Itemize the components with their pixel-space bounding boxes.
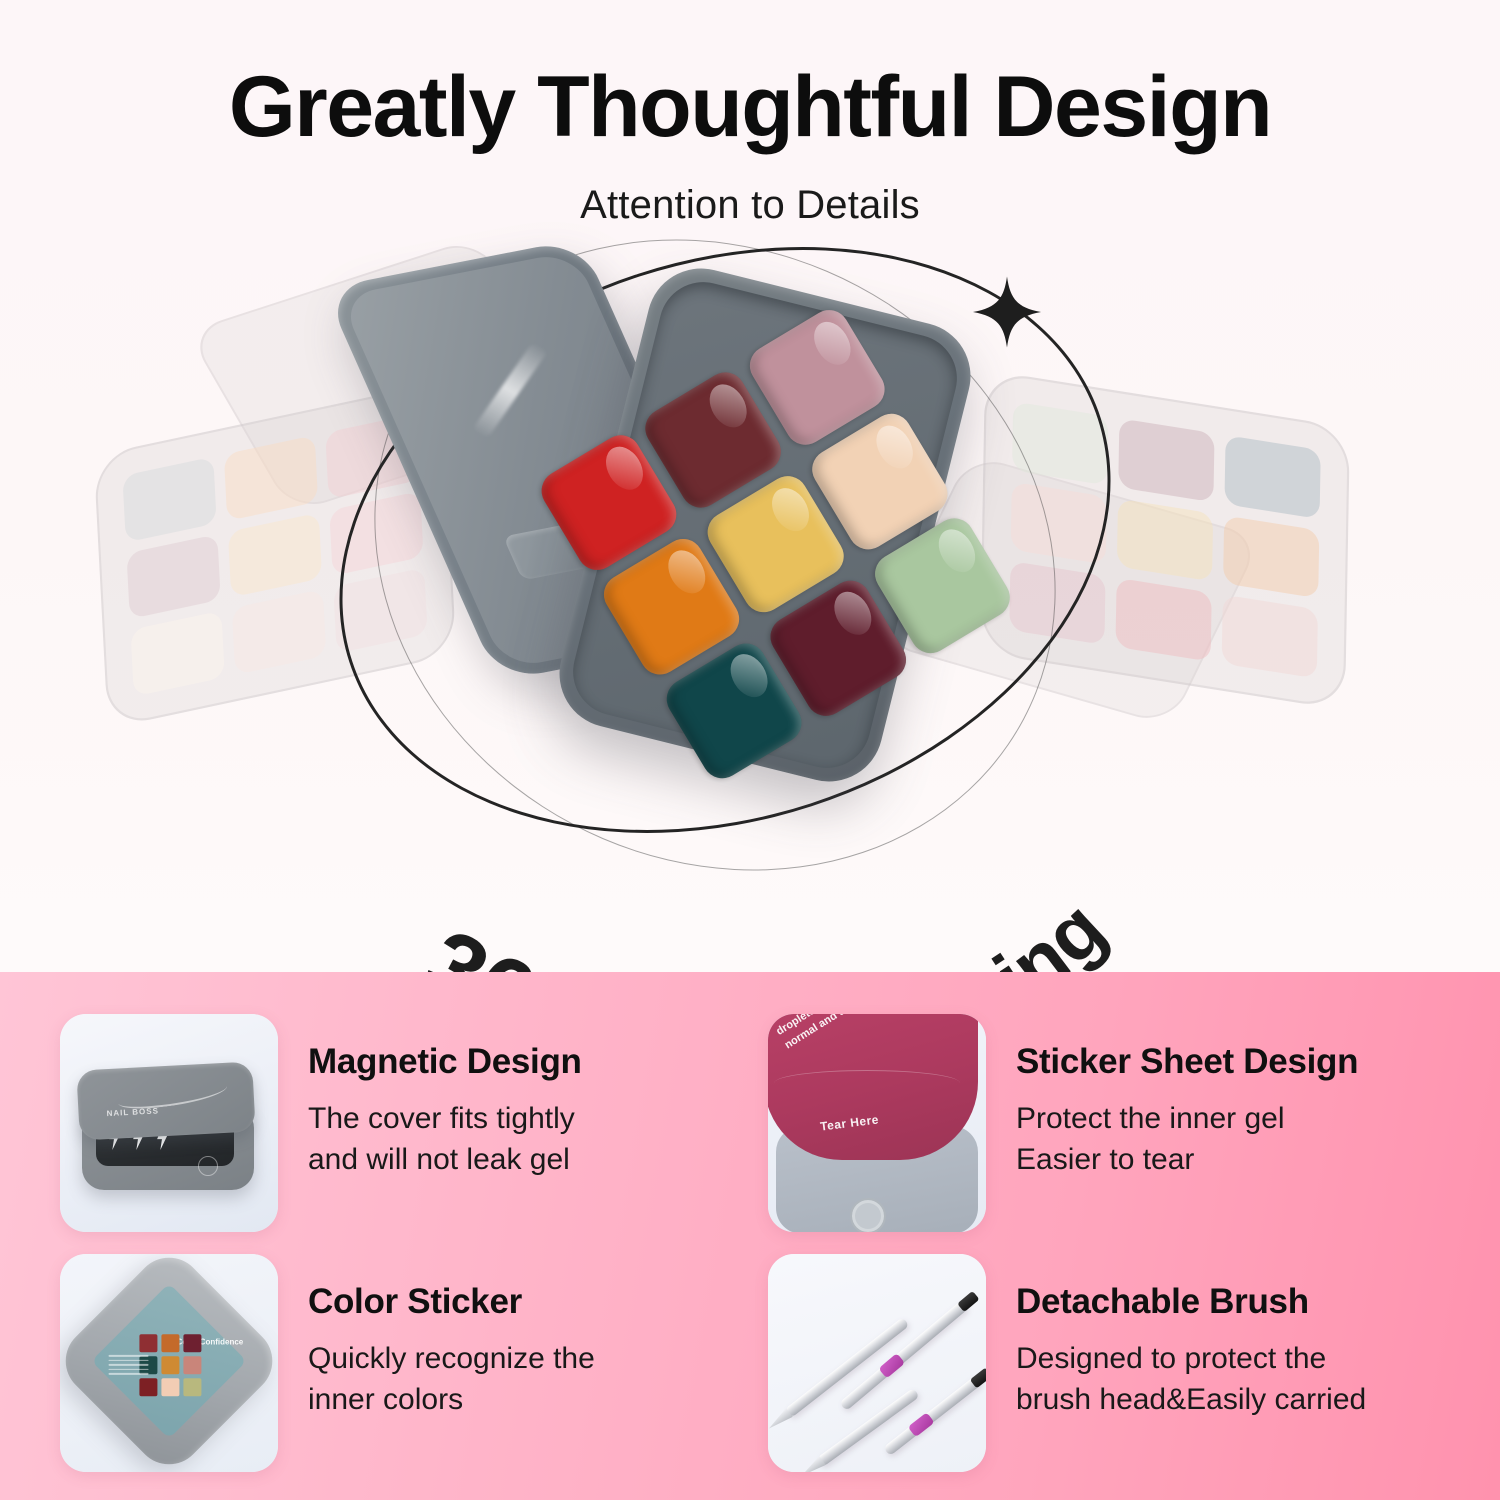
feature-desc-line-2: inner colors bbox=[308, 1379, 595, 1420]
sticker-swatch bbox=[161, 1378, 179, 1396]
feature-desc-line-1: Quickly recognize the bbox=[308, 1338, 595, 1379]
tear-seal-icon bbox=[850, 1198, 886, 1232]
svg-text:No Leaking: No Leaking bbox=[726, 883, 1122, 972]
sticker-swatch bbox=[183, 1334, 201, 1352]
ghost-well bbox=[126, 534, 220, 620]
feature-desc-line-2: and will not leak gel bbox=[308, 1139, 582, 1180]
sticker-swatch bbox=[183, 1378, 201, 1396]
sticker-swatch bbox=[183, 1356, 201, 1374]
sticker-sheet: ush droplets or bubbles are normal and u… bbox=[768, 1014, 978, 1160]
ghost-well bbox=[1224, 435, 1320, 519]
feature-card-sticker-sheet-design[interactable]: ush droplets or bubbles are normal and u… bbox=[768, 1014, 1440, 1232]
ghost-well bbox=[1223, 515, 1319, 599]
sticker-swatch bbox=[139, 1334, 157, 1352]
page-subtitle: Attention to Details bbox=[0, 183, 1500, 228]
feature-description: The cover fits tightly and will not leak… bbox=[308, 1098, 582, 1181]
sheet-warning-text: droplets or bubbles are normal and usage… bbox=[774, 1014, 927, 1054]
feature-description: Quickly recognize the inner colors bbox=[308, 1338, 595, 1421]
sticker-swatch-grid bbox=[139, 1334, 201, 1396]
sticker-swatch bbox=[161, 1334, 179, 1352]
feature-description: Designed to protect the brush head&Easil… bbox=[1016, 1338, 1366, 1421]
feature-text-block: Detachable Brush Designed to protect the… bbox=[1016, 1254, 1366, 1421]
thumb-background bbox=[768, 1254, 986, 1472]
ghost-well bbox=[1115, 578, 1211, 662]
feature-desc-line-1: Designed to protect the bbox=[1016, 1338, 1366, 1379]
ghost-well bbox=[1117, 498, 1213, 582]
product-stage: 360° No Leaking bbox=[0, 230, 1500, 930]
feature-card-color-sticker[interactable]: Color Confidence bbox=[60, 1254, 732, 1472]
sticker-swatch bbox=[161, 1356, 179, 1374]
color-sticker-label: Color Confidence bbox=[91, 1283, 247, 1439]
svg-text:360°: 360° bbox=[408, 909, 630, 972]
compact-lid: NAIL BOSS bbox=[76, 1061, 255, 1140]
color-sticker-thumbnail[interactable]: Color Confidence bbox=[60, 1254, 278, 1472]
ghost-well bbox=[130, 611, 224, 697]
hero-section: Greatly Thoughtful Design Attention to D… bbox=[0, 0, 1500, 972]
sheet-crease-line bbox=[774, 1070, 960, 1096]
page-title: Greatly Thoughtful Design bbox=[0, 62, 1500, 152]
sticker-swatch bbox=[139, 1378, 157, 1396]
ghost-well bbox=[122, 457, 216, 543]
feature-card-detachable-brush[interactable]: Detachable Brush Designed to protect the… bbox=[768, 1254, 1440, 1472]
feature-text-block: Sticker Sheet Design Protect the inner g… bbox=[1016, 1014, 1358, 1181]
sparkle-star-icon bbox=[970, 275, 1044, 349]
features-grid: NAIL BOSS Magnetic Design The cover fits… bbox=[60, 1014, 1440, 1470]
feature-title: Detachable Brush bbox=[1016, 1282, 1366, 1322]
lid-highlight bbox=[472, 341, 549, 439]
magnetic-compact-thumbnail[interactable]: NAIL BOSS bbox=[60, 1014, 278, 1232]
feature-text-block: Magnetic Design The cover fits tightly a… bbox=[308, 1014, 582, 1181]
feature-desc-line-1: The cover fits tightly bbox=[308, 1098, 582, 1139]
feature-desc-line-2: brush head&Easily carried bbox=[1016, 1379, 1366, 1420]
sticker-text-lines bbox=[109, 1355, 149, 1378]
sticker-sheet-thumbnail[interactable]: ush droplets or bubbles are normal and u… bbox=[768, 1014, 986, 1232]
feature-text-block: Color Sticker Quickly recognize the inne… bbox=[308, 1254, 595, 1421]
no-leaking-badge: 360° No Leaking bbox=[380, 750, 1220, 972]
ghost-well bbox=[228, 512, 322, 598]
ghost-well bbox=[232, 589, 326, 675]
ghost-well bbox=[224, 435, 318, 521]
brand-wordmark: NAIL BOSS bbox=[106, 1106, 159, 1118]
features-section: NAIL BOSS Magnetic Design The cover fits… bbox=[0, 972, 1500, 1500]
base-seal-icon bbox=[198, 1156, 218, 1176]
feature-title: Magnetic Design bbox=[308, 1042, 582, 1082]
feature-title: Sticker Sheet Design bbox=[1016, 1042, 1358, 1082]
feature-desc-line-2: Easier to tear bbox=[1016, 1139, 1358, 1180]
feature-description: Protect the inner gel Easier to tear bbox=[1016, 1098, 1358, 1181]
tear-here-label: Tear Here bbox=[819, 1112, 879, 1133]
feature-card-magnetic-design[interactable]: NAIL BOSS Magnetic Design The cover fits… bbox=[60, 1014, 732, 1232]
feature-title: Color Sticker bbox=[308, 1282, 595, 1322]
ghost-well bbox=[1222, 595, 1318, 679]
feature-desc-line-1: Protect the inner gel bbox=[1016, 1098, 1358, 1139]
ghost-well bbox=[1118, 418, 1214, 502]
detachable-brush-thumbnail[interactable] bbox=[768, 1254, 986, 1472]
